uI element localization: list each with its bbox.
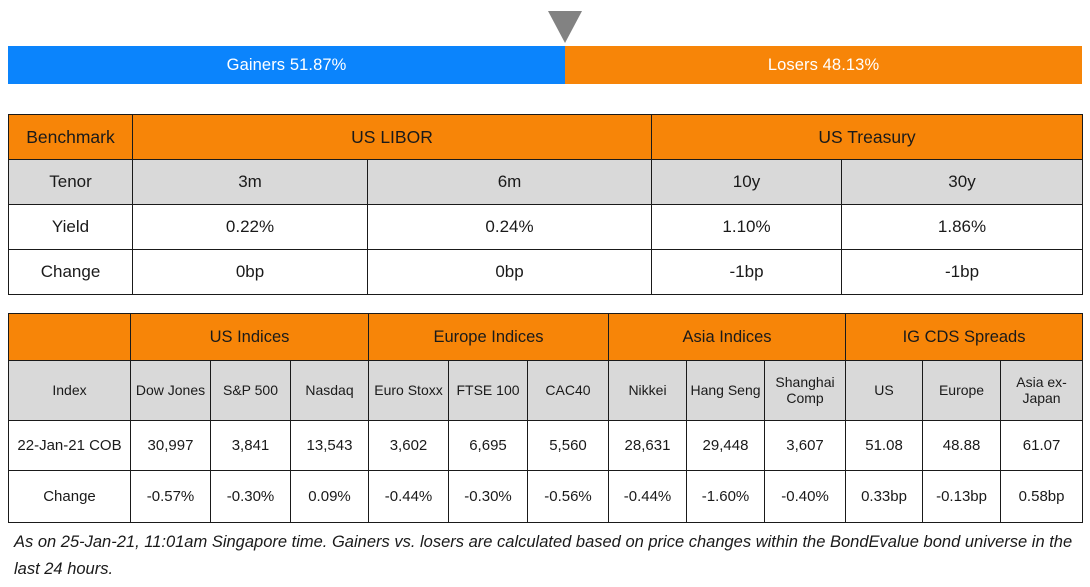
table-column-header: US: [846, 361, 923, 421]
table-row: Change0bp0bp-1bp-1bp: [9, 250, 1083, 295]
table-group-header: Europe Indices: [369, 314, 609, 361]
table-row-label: Change: [9, 250, 133, 295]
table-row-label: 22-Jan-21 COB: [9, 421, 131, 471]
table-cell-value: 0bp: [133, 250, 368, 295]
footnote-text: As on 25-Jan-21, 11:01am Singapore time.…: [14, 529, 1074, 582]
table-cell-value: -1.60%: [687, 471, 765, 523]
table-column-header: Nasdaq: [291, 361, 369, 421]
losers-label: Losers 48.13%: [768, 56, 879, 75]
table-cell-value: 5,560: [528, 421, 609, 471]
table-row-label: Change: [9, 471, 131, 523]
table-column-header-row: IndexDow JonesS&P 500NasdaqEuro StoxxFTS…: [9, 361, 1083, 421]
table-cell-value: 0.33bp: [846, 471, 923, 523]
table-column-header: 10y: [652, 160, 842, 205]
table-column-header: Nikkei: [609, 361, 687, 421]
table-row: Yield0.22%0.24%1.10%1.86%: [9, 205, 1083, 250]
table-cell-value: -0.40%: [765, 471, 846, 523]
table-cell-value: -1bp: [842, 250, 1083, 295]
table-column-header: 30y: [842, 160, 1083, 205]
table-cell-value: -0.30%: [211, 471, 291, 523]
losers-segment: Losers 48.13%: [565, 46, 1082, 84]
table-row-label: Yield: [9, 205, 133, 250]
gainers-segment: Gainers 51.87%: [8, 46, 565, 84]
table-corner-cell: Benchmark: [9, 115, 133, 160]
table-row-axis-header: Tenor: [9, 160, 133, 205]
table-cell-value: -0.13bp: [923, 471, 1001, 523]
table-row: 22-Jan-21 COB30,9973,84113,5433,6026,695…: [9, 421, 1083, 471]
table-row-axis-header: Index: [9, 361, 131, 421]
table-group-header: IG CDS Spreads: [846, 314, 1083, 361]
table-corner-cell: [9, 314, 131, 361]
table-column-header: S&P 500: [211, 361, 291, 421]
table-cell-value: 51.08: [846, 421, 923, 471]
table-group-header: US Indices: [131, 314, 369, 361]
table-cell-value: 48.88: [923, 421, 1001, 471]
table-column-header: Shanghai Comp: [765, 361, 846, 421]
table-cell-value: -0.57%: [131, 471, 211, 523]
table-group-header: Asia Indices: [609, 314, 846, 361]
gainers-label: Gainers 51.87%: [227, 56, 347, 75]
table-cell-value: 13,543: [291, 421, 369, 471]
table-cell-value: 30,997: [131, 421, 211, 471]
table-column-header: 6m: [368, 160, 652, 205]
table-cell-value: -0.56%: [528, 471, 609, 523]
table-column-header: Dow Jones: [131, 361, 211, 421]
table-column-header: 3m: [133, 160, 368, 205]
table-cell-value: 0.58bp: [1001, 471, 1083, 523]
table-column-header: CAC40: [528, 361, 609, 421]
table-cell-value: 1.10%: [652, 205, 842, 250]
benchmark-rates-table: BenchmarkUS LIBORUS TreasuryTenor3m6m10y…: [8, 114, 1083, 295]
table-row: Change-0.57%-0.30%0.09%-0.44%-0.30%-0.56…: [9, 471, 1083, 523]
table-cell-value: 28,631: [609, 421, 687, 471]
market-indices-table: US IndicesEurope IndicesAsia IndicesIG C…: [8, 313, 1083, 523]
table-column-header: Hang Seng: [687, 361, 765, 421]
table-cell-value: 1.86%: [842, 205, 1083, 250]
table-cell-value: -0.44%: [369, 471, 449, 523]
table-cell-value: -0.44%: [609, 471, 687, 523]
table-cell-value: 0.22%: [133, 205, 368, 250]
table-cell-value: 29,448: [687, 421, 765, 471]
table-group-header-row: BenchmarkUS LIBORUS Treasury: [9, 115, 1083, 160]
table-cell-value: 0bp: [368, 250, 652, 295]
table-cell-value: 0.09%: [291, 471, 369, 523]
table-cell-value: 0.24%: [368, 205, 652, 250]
table-cell-value: -1bp: [652, 250, 842, 295]
table-cell-value: 3,602: [369, 421, 449, 471]
table-cell-value: 6,695: [449, 421, 528, 471]
table-column-header: Europe: [923, 361, 1001, 421]
table-group-header: US Treasury: [652, 115, 1083, 160]
table-group-header: US LIBOR: [133, 115, 652, 160]
split-marker-triangle-icon: [548, 11, 582, 43]
table-cell-value: 3,841: [211, 421, 291, 471]
table-column-header: FTSE 100: [449, 361, 528, 421]
table-group-header-row: US IndicesEurope IndicesAsia IndicesIG C…: [9, 314, 1083, 361]
table-cell-value: -0.30%: [449, 471, 528, 523]
table-column-header: Asia ex-Japan: [1001, 361, 1083, 421]
table-cell-value: 3,607: [765, 421, 846, 471]
gainers-losers-bar: Gainers 51.87% Losers 48.13%: [8, 46, 1082, 84]
table-column-header: Euro Stoxx: [369, 361, 449, 421]
table-cell-value: 61.07: [1001, 421, 1083, 471]
table-column-header-row: Tenor3m6m10y30y: [9, 160, 1083, 205]
